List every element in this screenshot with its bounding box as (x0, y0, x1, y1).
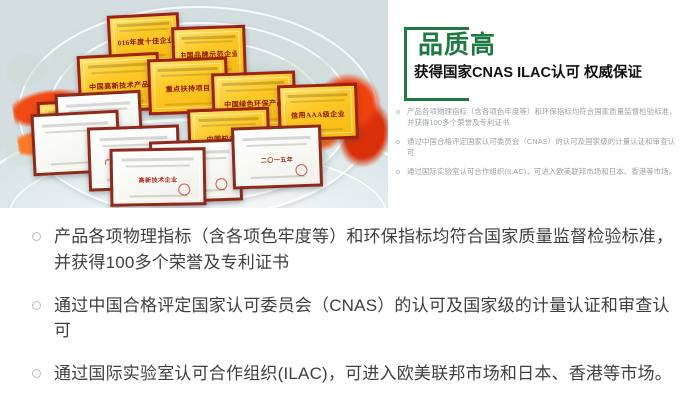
list-item-text: 通过中国合格评定国家认可委员会（CNAS）的认可及国家级的计量认证和审查认可 (407, 137, 675, 157)
list-item-text: 通过中国合格评定国家认可委员会（CNAS）的认可及国家级的计量认证和审查认可 (54, 296, 670, 341)
certificate-plaque: 二〇一五年 (231, 124, 323, 189)
list-item-text: 通过国际实验室认可合作组织(ILAC)，可进入欧美联邦市场和日本、香港等市场。 (407, 167, 676, 176)
list-item-text: 产品各项物理指标（含各项色牢度等）和环保指标均符合国家质量监督检验标准，并获得1… (407, 107, 677, 127)
banner-feature-list: 产品各项物理指标（含各项色牢度等）和环保指标均符合国家质量监督检验标准，并获得1… (394, 106, 682, 184)
list-item-text: 通过国际实验室认可合作组织(ILAC)，可进入欧美联邦市场和日本、香港等市场。 (54, 364, 672, 383)
bullet-circle-icon (32, 232, 41, 241)
certificate-title: 重点扶持项目 (158, 82, 219, 95)
certificate-wall-photo: 2016年度十佳企业 中国品牌示范企业 中国高新技术产品 重点扶持项目 (0, 0, 390, 208)
list-item: 通过国际实验室认可合作组织(ILAC)，可进入欧美联邦市场和日本、香港等市场。 (394, 166, 682, 177)
bullet-circle-icon (396, 140, 400, 144)
list-item-text: 产品各项物理指标（含各项色牢度等）和环保指标均符合国家质量监督检验标准，并获得1… (54, 227, 673, 272)
brand-title: 品质高 (418, 33, 496, 58)
brand-subtitle: 获得国家CNAS ILAC认可 权威保证 (414, 66, 642, 81)
top-banner: 2016年度十佳企业 中国品牌示范企业 中国高新技术产品 重点扶持项目 (0, 0, 688, 208)
list-item: 产品各项物理指标（含各项色牢度等）和环保指标均符合国家质量监督检验标准，并获得1… (394, 106, 682, 129)
list-item: 通过中国合格评定国家认可委员会（CNAS）的认可及国家级的计量认证和审查认可 (14, 293, 674, 345)
banner-info-column: 品质高 获得国家CNAS ILAC认可 权威保证 产品各项物理指标（含各项色牢度… (388, 0, 688, 208)
list-item: 通过中国合格评定国家认可委员会（CNAS）的认可及国家级的计量认证和审查认可 (394, 136, 682, 159)
certificate-title: 信用AAA级企业 (288, 108, 349, 121)
bullet-circle-icon (396, 110, 400, 114)
bullet-circle-icon (396, 170, 400, 174)
bullet-circle-icon (32, 369, 41, 378)
list-item: 通过国际实验室认可合作组织(ILAC)，可进入欧美联邦市场和日本、香港等市场。 (14, 361, 674, 387)
certificate-plaque: 高新技术企业 (110, 147, 207, 207)
bullet-circle-icon (32, 301, 41, 310)
list-item: 产品各项物理指标（含各项色牢度等）和环保指标均符合国家质量监督检验标准，并获得1… (14, 224, 674, 276)
feature-list: 产品各项物理指标（含各项色牢度等）和环保指标均符合国家质量监督检验标准，并获得1… (0, 208, 688, 417)
